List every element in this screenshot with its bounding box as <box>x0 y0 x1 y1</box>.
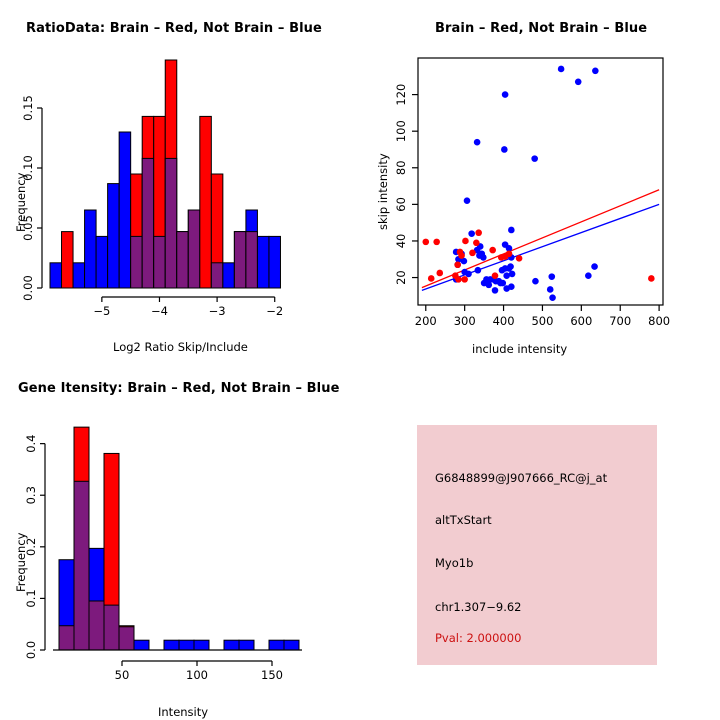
histogram-bar-overlap <box>89 601 104 650</box>
x-axis-tick-label: 600 <box>570 314 592 328</box>
histogram-bar-overlap <box>104 605 119 650</box>
histogram-bar-overlap <box>211 263 223 288</box>
x-axis-tick-label: −4 <box>151 304 168 318</box>
gene-histogram-ylabel: Frequency <box>14 533 28 592</box>
scatter-point <box>516 255 523 262</box>
scatter-point <box>436 270 443 277</box>
histogram-bar <box>62 232 74 288</box>
y-axis-tick-label: 0.0 <box>24 641 38 659</box>
x-axis-tick-label: 800 <box>648 314 670 328</box>
scatter-point <box>464 197 471 204</box>
histogram-bar <box>73 263 85 288</box>
y-axis-tick-label: 0.00 <box>21 275 35 301</box>
histogram-bar-overlap <box>234 232 246 288</box>
scatter-point <box>428 275 435 282</box>
histogram-bar <box>119 132 131 288</box>
scatter-xlabel: include intensity <box>472 342 567 356</box>
scatter-point <box>468 230 475 237</box>
scatter-point <box>433 239 440 246</box>
x-axis-tick-label: 50 <box>115 668 130 682</box>
figure-canvas: RatioData: Brain – Red, Not Brain – Blue… <box>0 0 720 720</box>
scatter-point <box>492 272 499 279</box>
scatter-point <box>548 273 555 280</box>
y-axis-tick-label: 80 <box>394 160 408 175</box>
scatter-point <box>508 227 515 234</box>
gene-bars <box>59 427 299 650</box>
scatter-point <box>480 254 487 261</box>
y-axis-tick-label: 0.3 <box>24 486 38 504</box>
histogram-bar <box>269 640 284 650</box>
scatter-x-axis: 200300400500600700800 <box>415 305 670 328</box>
histogram-bar-overlap <box>74 481 89 650</box>
histogram-bar-overlap <box>142 158 154 288</box>
info-pval: Pval: 2.000000 <box>435 631 521 645</box>
scatter-point <box>549 294 556 301</box>
ratio-histogram-ylabel: Frequency <box>14 173 28 232</box>
y-axis-tick-label: 40 <box>394 234 408 249</box>
panel-gene-histogram: Gene Itensity: Brain – Red, Not Brain – … <box>0 360 360 720</box>
scatter-point <box>502 253 509 260</box>
histogram-bar <box>224 640 239 650</box>
y-axis-tick-label: 0.1 <box>24 589 38 607</box>
scatter-point <box>465 271 472 278</box>
scatter-point <box>547 286 554 293</box>
gene-histogram-plot: 0.00.10.20.30.450100150 <box>0 360 360 720</box>
scatter-point <box>502 91 509 98</box>
histogram-bar <box>50 263 62 288</box>
histogram-bar <box>269 236 281 288</box>
histogram-bar <box>134 640 149 650</box>
scatter-point <box>558 66 565 73</box>
histogram-bar <box>85 210 97 288</box>
ratio-x-axis: −5−4−3−2 <box>93 297 283 318</box>
scatter-y-axis: 20406080100120 <box>394 84 418 285</box>
x-axis-tick-label: 200 <box>415 314 437 328</box>
panel-ratio-histogram: RatioData: Brain – Red, Not Brain – Blue… <box>0 0 360 360</box>
scatter-point <box>585 272 592 279</box>
scatter-point <box>503 272 510 279</box>
y-axis-tick-label: 0.4 <box>24 434 38 452</box>
scatter-point <box>499 267 506 274</box>
histogram-bar <box>200 116 212 288</box>
scatter-point <box>575 78 582 85</box>
scatter-point <box>475 267 482 274</box>
scatter-content <box>422 66 659 301</box>
x-axis-tick-label: −3 <box>209 304 226 318</box>
gene-x-axis: 50100150 <box>115 661 283 682</box>
info-probe-id: G6848899@J907666_RC@j_at <box>435 471 607 485</box>
info-gene-symbol: Myo1b <box>435 556 473 570</box>
scatter-point <box>591 263 598 270</box>
histogram-bar <box>96 236 108 288</box>
histogram-bar-overlap <box>246 232 258 288</box>
scatter-point <box>531 155 538 162</box>
info-locus: chr1.307−9.62 <box>435 600 522 614</box>
histogram-bar-overlap <box>177 232 189 288</box>
histogram-bar-overlap <box>154 236 166 288</box>
info-event-type: altTxStart <box>435 513 492 527</box>
panel-scatter: Brain – Red, Not Brain – Blue 2040608010… <box>360 0 720 360</box>
scatter-point <box>452 272 459 279</box>
histogram-bar <box>239 640 254 650</box>
histogram-bar <box>194 640 209 650</box>
scatter-point <box>422 239 429 246</box>
scatter-point <box>501 146 508 153</box>
ratio-histogram-xlabel: Log2 Ratio Skip/Include <box>113 340 248 354</box>
histogram-bar-overlap <box>131 236 143 288</box>
histogram-bar <box>284 640 299 650</box>
y-axis-tick-label: 0.15 <box>21 95 35 121</box>
histogram-bar-overlap <box>119 627 134 650</box>
gene-info-panel: G6848899@J907666_RC@j_at altTxStart Myo1… <box>417 425 657 665</box>
regression-line <box>422 190 659 288</box>
scatter-point <box>462 238 469 245</box>
scatter-point <box>458 252 465 259</box>
scatter-point <box>499 280 506 287</box>
x-axis-tick-label: 700 <box>609 314 631 328</box>
y-axis-tick-label: 100 <box>394 120 408 142</box>
x-axis-tick-label: 150 <box>261 668 283 682</box>
x-axis-tick-label: 500 <box>531 314 553 328</box>
scatter-point <box>461 276 468 283</box>
scatter-point <box>454 261 461 268</box>
y-axis-tick-label: 20 <box>394 270 408 285</box>
scatter-point <box>648 275 655 282</box>
histogram-bar-overlap <box>165 158 177 288</box>
scatter-point <box>532 278 539 285</box>
x-axis-tick-label: −2 <box>266 304 283 318</box>
scatter-plot: 20406080100120200300400500600700800 <box>360 0 720 360</box>
ratio-bars <box>50 60 280 288</box>
histogram-bar <box>179 640 194 650</box>
y-axis-tick-label: 120 <box>394 84 408 106</box>
scatter-point <box>469 250 476 257</box>
x-axis-tick-label: −5 <box>93 304 110 318</box>
plot-frame <box>418 58 663 305</box>
scatter-point <box>503 285 510 292</box>
histogram-bar <box>223 263 235 288</box>
x-axis-tick-label: 400 <box>493 314 515 328</box>
scatter-point <box>474 139 481 146</box>
scatter-point <box>592 68 599 75</box>
scatter-ylabel: skip intensity <box>376 153 390 230</box>
histogram-bar-overlap <box>188 210 200 288</box>
histogram-bar <box>164 640 179 650</box>
scatter-point <box>492 287 499 294</box>
ratio-histogram-plot: 0.000.050.100.15−5−4−3−2 <box>0 0 360 360</box>
histogram-bar <box>257 236 269 288</box>
y-axis-tick-label: 60 <box>394 197 408 212</box>
scatter-point <box>475 229 482 236</box>
gene-histogram-xlabel: Intensity <box>158 705 208 719</box>
histogram-bar <box>108 184 120 288</box>
x-axis-tick-label: 300 <box>454 314 476 328</box>
scatter-point <box>489 247 496 254</box>
histogram-bar-overlap <box>59 626 74 650</box>
scatter-point <box>473 239 480 246</box>
x-axis-tick-label: 100 <box>186 668 208 682</box>
scatter-point <box>485 282 492 289</box>
